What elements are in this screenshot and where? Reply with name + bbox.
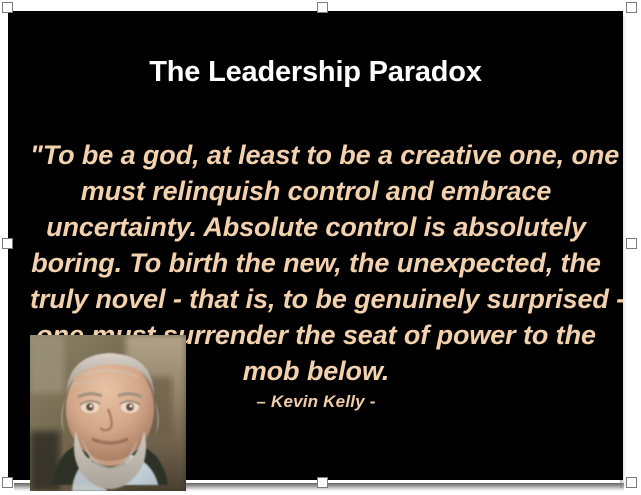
quote-line: boring. To birth the new, the unexpected… [30, 245, 602, 281]
page-title[interactable]: The Leadership Paradox [8, 55, 623, 89]
portrait-photo[interactable] [30, 335, 186, 491]
selection-handle-top-right[interactable] [626, 2, 637, 13]
selection-handle-middle-right[interactable] [626, 238, 637, 249]
selection-handle-bottom-center[interactable] [317, 477, 328, 488]
selection-handle-middle-left[interactable] [2, 238, 13, 249]
selection-handle-top-center[interactable] [317, 2, 328, 13]
selection-handle-bottom-right[interactable] [626, 477, 637, 488]
selection-handle-top-left[interactable] [2, 2, 13, 13]
quote-line: must relinquish control and embrace [30, 173, 602, 209]
quote-line: truly novel - that is, to be genuinely s… [30, 281, 602, 317]
quote-line: uncertainty. Absolute control is absolut… [30, 209, 602, 245]
portrait-image [30, 335, 186, 491]
slide-editor-canvas: The Leadership Paradox "To be a god, at … [0, 0, 641, 495]
quote-line: "To be a god, at least to be a creative … [30, 137, 602, 173]
selection-handle-bottom-left[interactable] [2, 477, 13, 488]
